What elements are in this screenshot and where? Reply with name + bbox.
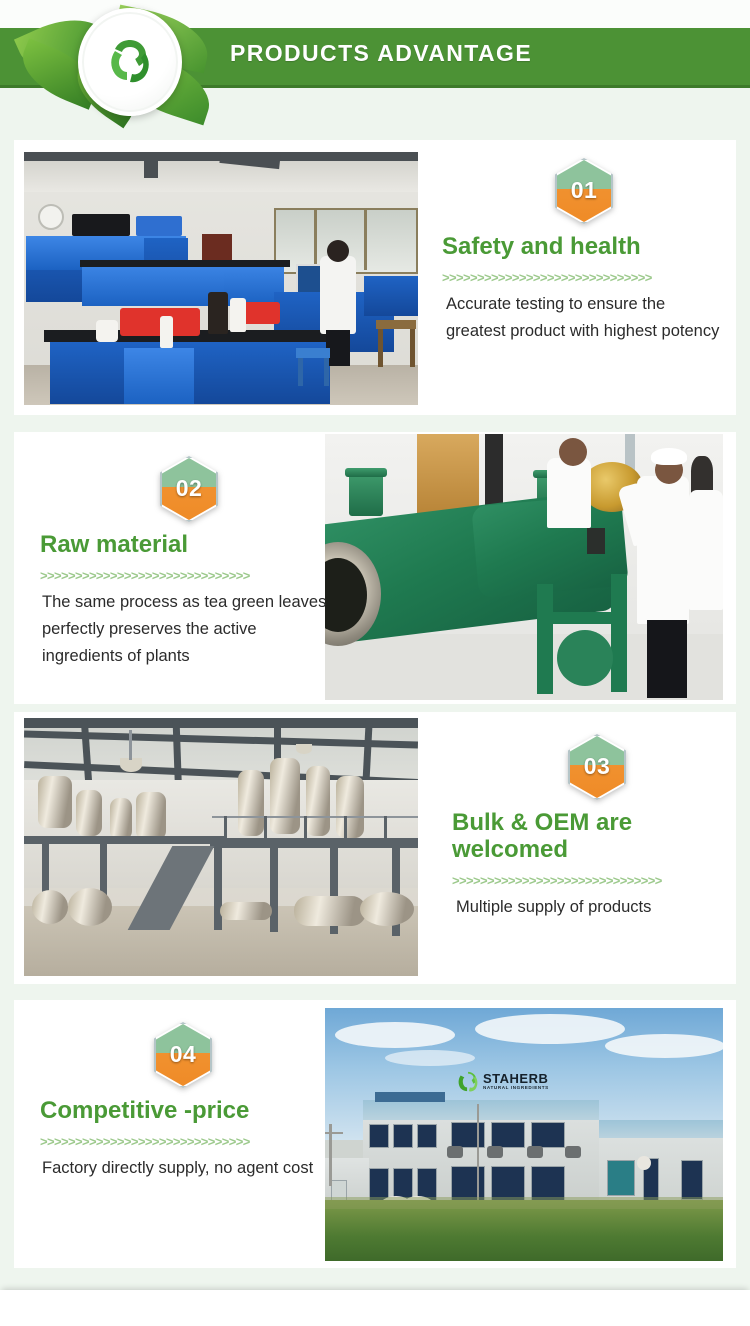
card-heading: Raw material xyxy=(40,532,328,559)
card-photo-factory-building: STAHERB NATURAL INGREDIENTS xyxy=(325,1008,723,1261)
recycle-leaf-icon xyxy=(99,31,161,93)
card-body: Factory directly supply, no agent cost xyxy=(42,1155,328,1182)
badge-number: 02 xyxy=(160,475,218,502)
chevron-divider: >>>>>>>>>>>>>>>>>>>>>>>>>>>>>> xyxy=(40,1134,328,1149)
hexagon-badge-icon: 02 xyxy=(160,456,218,522)
badge-row: 02 xyxy=(38,456,328,530)
badge-row: 01 xyxy=(440,158,728,232)
hexagon-badge-icon: 01 xyxy=(555,158,613,224)
sign-tagline: NATURAL INGREDIENTS xyxy=(483,1086,549,1091)
card-photo-roaster xyxy=(325,434,723,700)
advantage-card-04: STAHERB NATURAL INGREDIENTS xyxy=(14,1000,736,1268)
advantage-card-02: 02 Raw material >>>>>>>>>>>>>>>>>>>>>>>>… xyxy=(14,432,736,704)
advantage-card-03: 03 Bulk & OEM are welcomed >>>>>>>>>>>>>… xyxy=(14,712,736,984)
card-body: Multiple supply of products xyxy=(456,894,738,921)
badge-row: 03 xyxy=(450,734,738,808)
logo-circle-badge xyxy=(78,8,182,116)
card-body: The same process as tea green leaves per… xyxy=(42,589,328,670)
card-heading: Competitive -price xyxy=(40,1098,328,1125)
page-header: PRODUCTS ADVANTAGE xyxy=(0,0,750,118)
hexagon-badge-icon: 03 xyxy=(568,734,626,800)
card-body: Accurate testing to ensure the greatest … xyxy=(446,291,728,345)
card-text-04: 04 Competitive -price >>>>>>>>>>>>>>>>>>… xyxy=(38,1022,328,1182)
card-photo-workshop xyxy=(24,718,418,976)
products-advantage-page: PRODUCTS ADVANTAGE xyxy=(0,0,750,1326)
company-logo xyxy=(18,0,228,118)
staherb-leaf-icon xyxy=(457,1070,479,1092)
page-title: PRODUCTS ADVANTAGE xyxy=(230,40,532,67)
card-heading: Safety and health xyxy=(442,234,728,261)
card-text-02: 02 Raw material >>>>>>>>>>>>>>>>>>>>>>>>… xyxy=(38,456,328,670)
card-heading: Bulk & OEM are welcomed xyxy=(452,810,738,864)
card-text-03: 03 Bulk & OEM are welcomed >>>>>>>>>>>>>… xyxy=(450,734,738,921)
advantage-card-01: 01 Safety and health >>>>>>>>>>>>>>>>>>>… xyxy=(14,140,736,415)
badge-number: 03 xyxy=(568,753,626,780)
card-text-01: 01 Safety and health >>>>>>>>>>>>>>>>>>>… xyxy=(440,158,728,345)
badge-row: 04 xyxy=(38,1022,328,1096)
card-photo-laboratory xyxy=(24,152,418,405)
chevron-divider: >>>>>>>>>>>>>>>>>>>>>>>>>>>>>> xyxy=(442,270,728,285)
sign-company-name: STAHERB xyxy=(483,1072,549,1085)
chevron-divider: >>>>>>>>>>>>>>>>>>>>>>>>>>>>>> xyxy=(452,873,738,888)
building-sign: STAHERB NATURAL INGREDIENTS xyxy=(457,1070,549,1092)
badge-number: 01 xyxy=(555,177,613,204)
chevron-divider: >>>>>>>>>>>>>>>>>>>>>>>>>>>>>> xyxy=(40,568,328,583)
badge-number: 04 xyxy=(154,1041,212,1068)
hexagon-badge-icon: 04 xyxy=(154,1022,212,1088)
